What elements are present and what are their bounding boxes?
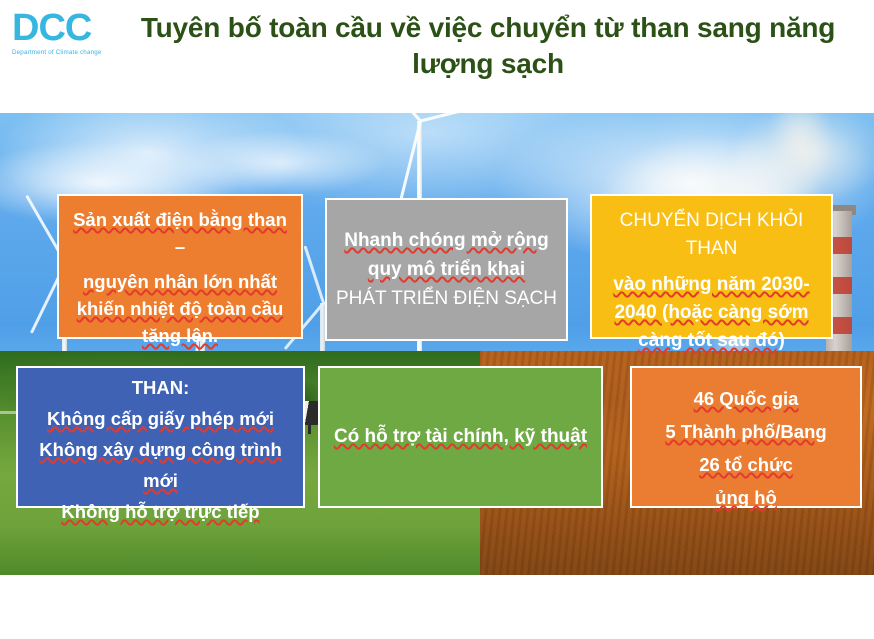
callout-line: 26 tổ chức (640, 448, 852, 481)
callout-line: Nhanh chóng mở rộng (335, 226, 558, 255)
callout-line: quy mô triển khai (335, 255, 558, 284)
callout-line: khiến nhiệt độ toàn cầu (67, 295, 293, 322)
callout-line: PHÁT TRIỂN ĐIỆN SẠCH (335, 284, 558, 313)
callout-line: THAN: (26, 372, 295, 403)
callout-line: CHUYỂN DỊCH KHỎI (600, 207, 823, 235)
callout-line: 2040 (hoặc càng sớm (600, 299, 823, 327)
callout-line: càng tốt sau đó) (600, 327, 823, 355)
callout-line: 5 Thành phố/Bang (640, 415, 852, 448)
callout-line: ủng hộ (640, 481, 852, 514)
callout-line: vào những năm 2030- (600, 271, 823, 299)
slide: DCC Department of Climate change Tuyên b… (0, 0, 874, 639)
callout-transition-away: CHUYỂN DỊCH KHỎI THAN vào những năm 2030… (590, 194, 833, 339)
callout-line: Sản xuất điện bằng than (67, 206, 293, 233)
callout-line: tăng lên. (67, 322, 293, 349)
callout-line: – (67, 233, 293, 260)
logo-subtitle: Department of Climate change (12, 49, 112, 56)
callout-financial-support: Có hỗ trợ tài chính, kỹ thuật (318, 366, 603, 508)
page-title: Tuyên bố toàn cầu về việc chuyển từ than… (118, 10, 858, 82)
callout-coal-power-cause: Sản xuất điện bằng than – nguyên nhân lớ… (57, 194, 303, 339)
dcc-logo: DCC Department of Climate change (12, 8, 112, 64)
callout-scale-up-clean: Nhanh chóng mở rộng quy mô triển khai PH… (325, 198, 568, 341)
slide-header: DCC Department of Climate change Tuyên b… (0, 0, 874, 113)
callout-line: nguyên nhân lớn nhất (67, 268, 293, 295)
callout-line: THAN (600, 235, 823, 263)
callout-supporters-count: 46 Quốc gia 5 Thành phố/Bang 26 tổ chức … (630, 366, 862, 508)
callout-line: Không hỗ trợ trực tiếp (26, 496, 295, 527)
callout-line: mới (26, 465, 295, 496)
callout-line: 46 Quốc gia (640, 382, 852, 415)
callout-line: Không cấp giấy phép mới (26, 403, 295, 434)
callout-line: Có hỗ trợ tài chính, kỹ thuật (334, 423, 587, 451)
callout-line: Không xây dựng công trình (26, 434, 295, 465)
logo-wordmark: DCC (12, 8, 112, 48)
callout-coal-commitments: THAN: Không cấp giấy phép mới Không xây … (16, 366, 305, 508)
